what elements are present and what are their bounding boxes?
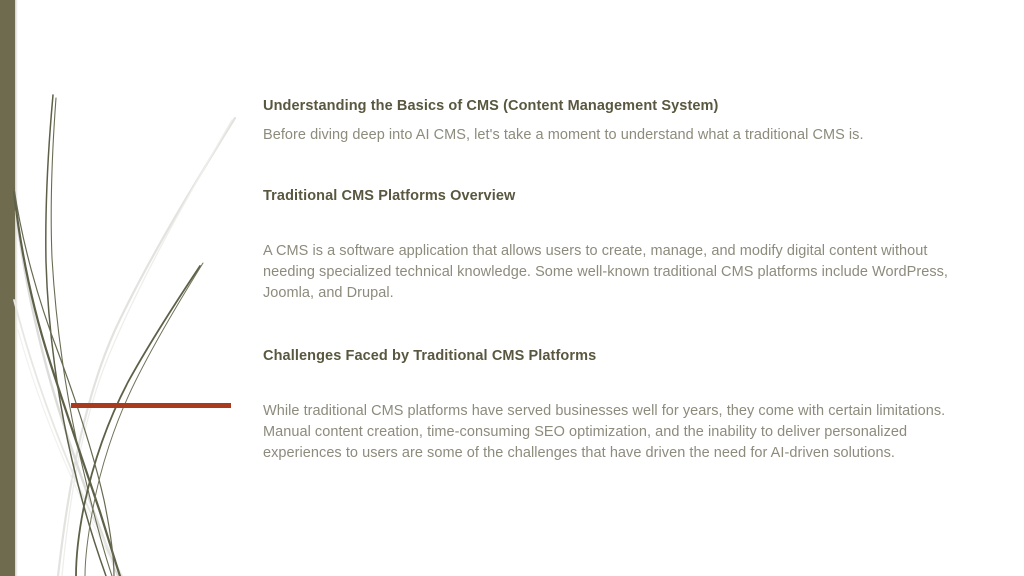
left-accent-bar	[0, 0, 15, 576]
section-1-body: Before diving deep into AI CMS, let's ta…	[263, 125, 963, 146]
section-1-heading: Understanding the Basics of CMS (Content…	[263, 96, 963, 117]
left-accent-bar-edge	[15, 0, 18, 576]
section-2-heading: Traditional CMS Platforms Overview	[263, 186, 963, 207]
section-2-body: A CMS is a software application that all…	[263, 241, 963, 304]
section-3-body: While traditional CMS platforms have ser…	[263, 401, 963, 464]
spacer	[263, 146, 963, 186]
section-3-heading: Challenges Faced by Traditional CMS Plat…	[263, 346, 963, 367]
slide-canvas: Understanding the Basics of CMS (Content…	[0, 0, 1024, 576]
spacer	[263, 367, 963, 401]
section-3: Challenges Faced by Traditional CMS Plat…	[263, 346, 963, 464]
spacer	[263, 207, 963, 241]
section-2: Traditional CMS Platforms Overview A CMS…	[263, 186, 963, 304]
content-column: Understanding the Basics of CMS (Content…	[263, 96, 963, 464]
spacer	[263, 117, 963, 125]
section-1: Understanding the Basics of CMS (Content…	[263, 96, 963, 146]
spacer	[263, 304, 963, 346]
red-accent-rule	[71, 403, 231, 408]
